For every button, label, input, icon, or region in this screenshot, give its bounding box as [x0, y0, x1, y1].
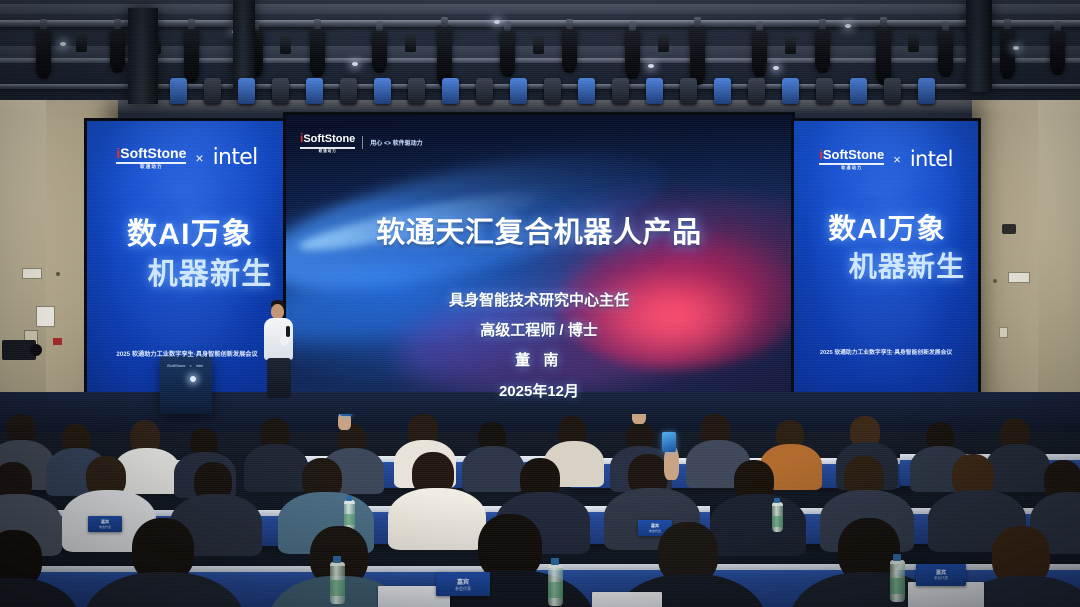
stage-light-small — [533, 36, 544, 54]
person-shoulders — [388, 488, 486, 550]
stage-light — [1000, 28, 1015, 76]
par-light — [374, 78, 391, 104]
light-glint — [845, 24, 851, 28]
water-bottle — [890, 560, 905, 602]
name-card-subtitle: 参会代表 — [99, 525, 111, 529]
light-glint — [773, 66, 779, 70]
par-light — [612, 78, 629, 104]
stage-light — [938, 30, 953, 74]
ceiling-band-upper — [0, 4, 1080, 14]
handout-paper — [592, 592, 662, 607]
bottle-label — [330, 580, 345, 596]
isoftstone-logo-text: SoftStone — [303, 134, 355, 145]
podium-isoftstone-logo: iSoftStone — [167, 363, 185, 368]
name-card-subtitle: 参会代表 — [934, 576, 948, 581]
bottle-cap — [346, 496, 352, 501]
smartphone — [340, 414, 352, 416]
left-panel-logo-row: iSoftStone 软通动力 × intel — [87, 145, 287, 170]
main-screen-top-shade — [286, 115, 792, 206]
stage-light — [372, 30, 387, 70]
par-light — [748, 78, 765, 104]
name-card-name: 嘉宾 — [457, 577, 469, 586]
right-wall-sign — [1008, 272, 1030, 283]
par-light — [204, 78, 221, 104]
par-light — [816, 78, 833, 104]
person-shoulders — [986, 444, 1050, 492]
person-shoulders — [710, 494, 806, 556]
right-panel-headline-2: 机器新生 — [794, 245, 978, 285]
lighting-truss-rear — [0, 58, 1080, 63]
isoftstone-logo: iSoftStone 软通动力 — [300, 132, 355, 154]
podium: iSoftStone × intel — [160, 356, 212, 414]
lighting-truss-front — [0, 20, 1080, 27]
raised-hand — [632, 414, 646, 424]
stage-light — [690, 26, 705, 82]
par-light — [170, 78, 187, 104]
conference-hall-scene: iSoftStone 软通动力 × intel 数AI万象 机器新生 2025 … — [0, 0, 1080, 607]
bottle-label — [548, 582, 563, 598]
par-light — [340, 78, 357, 104]
speaker-role-line-1: 具身智能技术研究中心主任 — [286, 289, 792, 310]
right-panel-headline-1: 数AI万象 — [794, 207, 978, 247]
stage-light-small — [785, 36, 796, 54]
main-screen-logo-row: iSoftStone 软通动力 用心 <> 软件驱动力 — [300, 132, 423, 154]
par-light — [408, 78, 425, 104]
speaker-role-line-2: 高级工程师 / 博士 — [286, 319, 792, 340]
smartphone — [662, 432, 676, 452]
right-panel-logo-row: iSoftStone 软通动力 × intel — [794, 147, 978, 171]
stage-light — [500, 30, 515, 74]
light-glint — [352, 62, 358, 66]
wall-notice-sign — [22, 268, 42, 279]
par-light — [476, 78, 493, 104]
stage-light — [184, 28, 199, 80]
par-light — [714, 78, 731, 104]
stage-light — [815, 28, 830, 70]
right-wall-pillar — [1038, 84, 1080, 426]
stage-light — [310, 28, 325, 74]
left-panel-headline-2: 机器新生 — [87, 249, 287, 293]
main-led-screen: iSoftStone 软通动力 用心 <> 软件驱动力 软通天汇复合机器人产品 … — [286, 115, 792, 417]
par-light — [884, 78, 901, 104]
name-card-subtitle: 参会代表 — [649, 529, 661, 533]
par-light — [272, 78, 289, 104]
audience-area: 嘉宾 参会代表 嘉宾 参会代表 — [0, 414, 1080, 607]
name-card: 嘉宾 参会代表 — [436, 572, 490, 596]
stage-light — [625, 30, 640, 76]
main-screen-logo-tagline: 用心 <> 软件驱动力 — [370, 138, 422, 147]
right-panel-subtitle: 2025 软通助力工业数字孪生·具身智能创新发展会议 — [794, 347, 978, 356]
left-wall-pillar — [0, 88, 46, 424]
right-wall-sensor — [993, 279, 997, 283]
par-light — [782, 78, 799, 104]
bottle-label — [344, 514, 355, 525]
name-card: 嘉宾 参会代表 — [916, 564, 966, 586]
person-shoulders — [244, 444, 308, 492]
stage-light — [1050, 30, 1065, 72]
logo-x-separator: × — [893, 152, 901, 167]
name-card: 嘉宾 参会代表 — [88, 516, 122, 532]
speaker-name: 董 南 — [286, 349, 792, 370]
light-glint — [494, 20, 500, 24]
stage-light — [437, 26, 452, 84]
isoftstone-logo: iSoftStone 软通动力 — [819, 148, 884, 170]
isoftstone-logo-cn: 软通动力 — [841, 166, 862, 170]
podium-reading-light — [190, 376, 196, 382]
stage-light-small — [405, 34, 416, 52]
logo-divider — [362, 136, 363, 149]
presentation-date: 2025年12月 — [286, 380, 792, 401]
intel-logo: intel — [213, 145, 258, 170]
logo-x-separator: × — [195, 150, 203, 166]
wall-safety-placard — [36, 306, 55, 327]
light-glint — [1013, 46, 1019, 50]
par-light — [680, 78, 697, 104]
name-card-name: 嘉宾 — [936, 569, 946, 576]
left-panel-headline-1: 数AI万象 — [87, 209, 287, 253]
wall-sensor-dot — [56, 272, 60, 276]
presenter-head — [271, 304, 284, 319]
isoftstone-logo-text: SoftStone — [120, 146, 186, 160]
isoftstone-logo: iSoftStone 软通动力 — [116, 146, 186, 170]
water-bottle — [772, 502, 783, 532]
podium-logo-x: × — [189, 363, 191, 368]
par-light — [442, 78, 459, 104]
light-glint — [60, 42, 66, 46]
right-led-panel: iSoftStone 软通动力 × intel 数AI万象 机器新生 2025 … — [794, 121, 978, 415]
bottle-cap — [893, 554, 901, 561]
stage-light — [562, 28, 577, 70]
stage-light-small — [76, 34, 87, 52]
isoftstone-logo-cn: 软通动力 — [319, 150, 337, 154]
stage-light — [876, 26, 891, 82]
right-wall-outlet — [999, 327, 1008, 338]
par-light — [578, 78, 595, 104]
water-bottle — [330, 562, 345, 604]
bottle-label — [772, 516, 783, 527]
par-light — [306, 78, 323, 104]
par-light — [646, 78, 663, 104]
bottle-cap — [774, 498, 780, 503]
water-bottle — [548, 564, 563, 606]
stage-light-small — [280, 36, 291, 54]
par-light — [510, 78, 527, 104]
podium-intel-logo: intel — [196, 363, 203, 368]
stage-light — [36, 28, 51, 76]
isoftstone-logo-cn: 软通动力 — [140, 165, 163, 170]
bottle-cap — [551, 558, 559, 565]
speaker-tower-right — [966, 0, 992, 92]
right-wall-speaker — [1002, 224, 1016, 234]
stage-light — [752, 30, 767, 74]
par-light — [918, 78, 935, 104]
par-light-row — [170, 78, 940, 108]
stage-light — [110, 28, 125, 70]
raised-hand — [338, 414, 351, 430]
camera-lens — [30, 344, 42, 356]
stage-light-small — [658, 34, 669, 52]
par-light — [850, 78, 867, 104]
isoftstone-logo-text: SoftStone — [823, 148, 884, 161]
name-card-subtitle: 参会代表 — [455, 586, 471, 592]
bottle-cap — [333, 556, 341, 563]
fire-extinguisher-marker — [53, 338, 62, 345]
speaker-tower-left — [128, 8, 158, 104]
podium-logo-row: iSoftStone × intel — [167, 363, 203, 368]
intel-logo: intel — [910, 147, 953, 171]
left-panel-subtitle: 2025 软通助力工业数字孪生·具身智能创新发展会议 — [87, 349, 287, 358]
bottle-label — [890, 578, 905, 594]
par-light — [238, 78, 255, 104]
par-light — [544, 78, 561, 104]
presentation-title: 软通天汇复合机器人产品 — [286, 209, 792, 251]
stage-light-small — [908, 34, 919, 52]
person-shoulders — [462, 446, 524, 492]
light-glint — [648, 64, 654, 68]
